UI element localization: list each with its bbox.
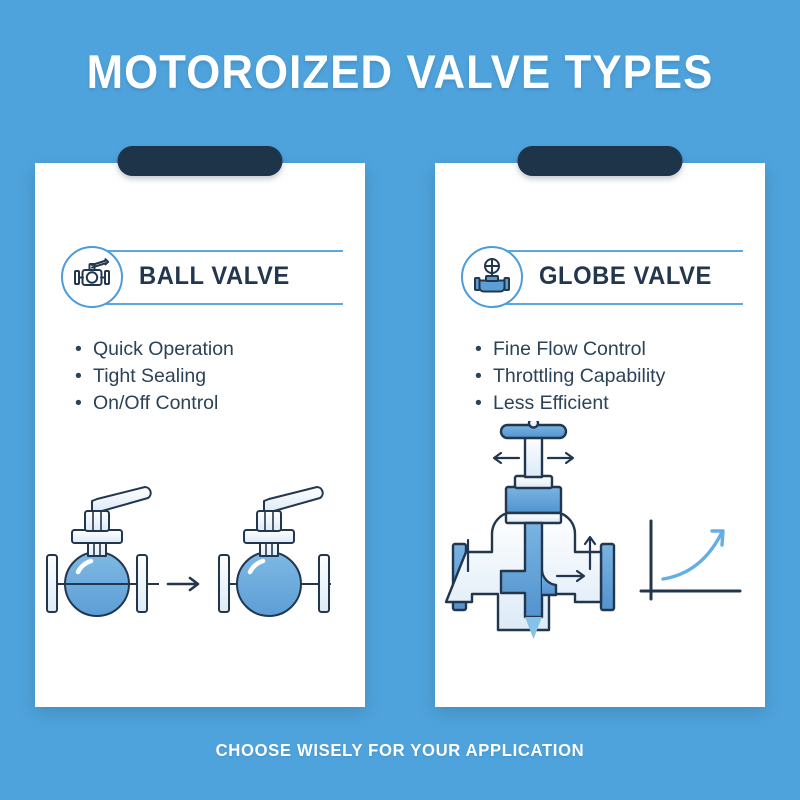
list-item: •Throttling Capability [475,363,665,390]
header-rule-top [106,250,343,252]
page-title: MOTOROIZED VALVE TYPES [28,44,772,99]
card-clip-ball-valve [118,146,283,176]
bullet-marker: • [475,363,482,390]
ball-valve-icon [61,246,123,308]
card-title-globe-valve: GLOBE VALVE [539,262,712,291]
feature-list-ball-valve: •Quick Operation •Tight Sealing •On/Off … [75,336,234,417]
bullet-marker: • [75,336,82,363]
list-item: •Quick Operation [75,336,234,363]
card-header-globe-valve: GLOBE VALVE [461,246,743,308]
ball-valve-open [47,487,159,616]
card-ball-valve: BALL VALVE •Quick Operation •Tight Seali… [35,163,365,707]
card-clip-globe-valve [518,146,683,176]
flow-curve-graph [641,521,740,599]
header-rule-top [506,250,743,252]
card-title-ball-valve: BALL VALVE [139,262,290,291]
bullet-marker: • [75,363,82,390]
bullet-marker: • [75,390,82,417]
card-globe-valve: GLOBE VALVE •Fine Flow Control •Throttli… [435,163,765,707]
footer-tagline: CHOOSE WISELY FOR YOUR APPLICATION [20,740,780,761]
header-rule-bottom [506,303,743,305]
bullet-marker: • [475,336,482,363]
list-item: •Fine Flow Control [475,336,665,363]
bullet-marker: • [475,390,482,417]
infographic-canvas: MOTOROIZED VALVE TYPES [0,0,800,800]
card-header-ball-valve: BALL VALVE [61,246,343,308]
globe-valve-body [446,421,614,639]
list-item-label: On/Off Control [93,392,218,414]
globe-valve-flow-diagram [435,421,765,671]
list-item-label: Throttling Capability [493,365,665,387]
list-item: •Tight Sealing [75,363,234,390]
globe-valve-icon [461,246,523,308]
feature-list-globe-valve: •Fine Flow Control •Throttling Capabilit… [475,336,665,417]
list-item-label: Quick Operation [93,338,234,360]
ball-valve-open-closed-diagram [35,473,365,663]
list-item: •Less Efficient [475,390,665,417]
ball-valve-closed [219,487,331,616]
header-rule-bottom [106,303,343,305]
list-item-label: Tight Sealing [93,365,206,387]
list-item-label: Less Efficient [493,392,609,414]
list-item-label: Fine Flow Control [493,338,646,360]
list-item: •On/Off Control [75,390,234,417]
transition-arrow [168,578,198,590]
